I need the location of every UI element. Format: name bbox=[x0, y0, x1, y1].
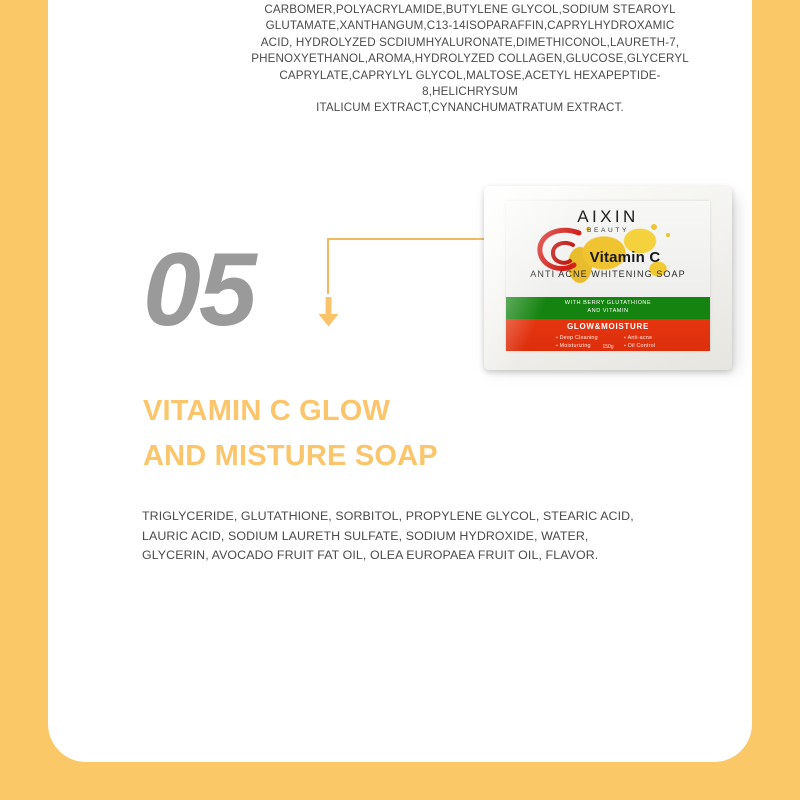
brand-subtitle: BEAUTY bbox=[506, 227, 710, 234]
connector-horizontal-line bbox=[327, 238, 486, 240]
label-green-band: WITH BERRY GLUTATHIONE AND VITAMIN bbox=[506, 297, 710, 319]
page-title: VITAMIN C GLOW AND MISTURE SOAP bbox=[143, 389, 573, 479]
top-ingredients-text: CARBOMER,POLYACRYLAMIDE,BUTYLENE GLYCOL,… bbox=[244, 2, 696, 117]
product-weight: 150g bbox=[506, 344, 710, 350]
red-band-title: GLOW&MOISTURE bbox=[506, 322, 710, 331]
label-top-section: AIXIN BEAUTY Vitamin C ANTI ACNE WHITENI… bbox=[506, 201, 710, 297]
feature-anti-acne: Anti-acne bbox=[624, 335, 652, 341]
product-detail-page: CARBOMER,POLYACRYLAMIDE,BUTYLENE GLYCOL,… bbox=[0, 0, 800, 800]
bottom-ingredients-text: TRIGLYCERIDE, GLUTATHIONE, SORBITOL, PRO… bbox=[142, 507, 662, 566]
green-band-line-2: AND VITAMIN bbox=[506, 308, 710, 314]
soap-label: AIXIN BEAUTY Vitamin C ANTI ACNE WHITENI… bbox=[506, 201, 710, 351]
soap-bar: AIXIN BEAUTY Vitamin C ANTI ACNE WHITENI… bbox=[484, 186, 732, 370]
brand-name: AIXIN bbox=[506, 207, 710, 227]
product-image: AIXIN BEAUTY Vitamin C ANTI ACNE WHITENI… bbox=[482, 186, 740, 374]
product-name: Vitamin C bbox=[550, 249, 700, 266]
down-arrow-icon bbox=[318, 297, 339, 327]
product-tagline: ANTI ACNE WHITENING SOAP bbox=[514, 269, 702, 279]
step-number: 05 bbox=[143, 238, 255, 342]
connector-vertical-line bbox=[327, 238, 329, 294]
label-red-band: GLOW&MOISTURE Deep Cleaning Moisturizing… bbox=[506, 319, 710, 351]
white-content-panel: CARBOMER,POLYACRYLAMIDE,BUTYLENE GLYCOL,… bbox=[48, 0, 752, 762]
green-band-line-1: WITH BERRY GLUTATHIONE bbox=[506, 300, 710, 306]
feature-deep-cleaning: Deep Cleaning bbox=[556, 335, 598, 341]
